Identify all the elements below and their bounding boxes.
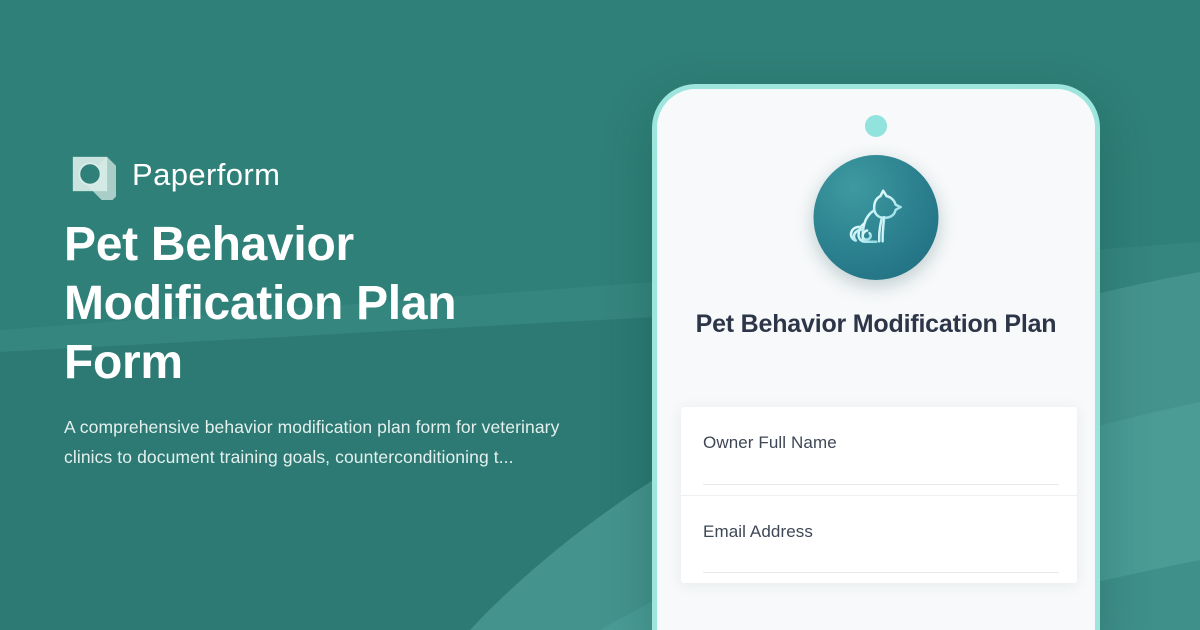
- promo-banner: Paperform Pet Behavior Modification Plan…: [0, 0, 1200, 630]
- hero-content: Paperform Pet Behavior Modification Plan…: [64, 0, 624, 630]
- field-label: Email Address: [703, 522, 1055, 542]
- field-underline: [703, 484, 1059, 485]
- sitting-dog-icon: [837, 179, 915, 257]
- form-field-email-address[interactable]: Email Address: [681, 495, 1077, 583]
- field-label: Owner Full Name: [703, 433, 1055, 453]
- form-avatar: [814, 155, 939, 280]
- form-title: Pet Behavior Modification Plan: [679, 305, 1073, 343]
- field-underline: [703, 572, 1059, 573]
- page-description: A comprehensive behavior modification pl…: [64, 412, 564, 472]
- form-field-list: Owner Full Name Email Address: [681, 407, 1077, 583]
- form-field-owner-full-name[interactable]: Owner Full Name: [681, 407, 1077, 495]
- paperform-wordmark: Paperform: [132, 159, 280, 190]
- phone-screen: Pet Behavior Modification Plan Owner Ful…: [657, 89, 1095, 630]
- paperform-logo-icon: [64, 148, 116, 200]
- phone-mockup: Pet Behavior Modification Plan Owner Ful…: [652, 84, 1100, 630]
- page-title: Pet Behavior Modification Plan Form: [64, 215, 534, 392]
- paperform-logo[interactable]: Paperform: [64, 148, 280, 200]
- camera-dot-icon: [865, 115, 887, 137]
